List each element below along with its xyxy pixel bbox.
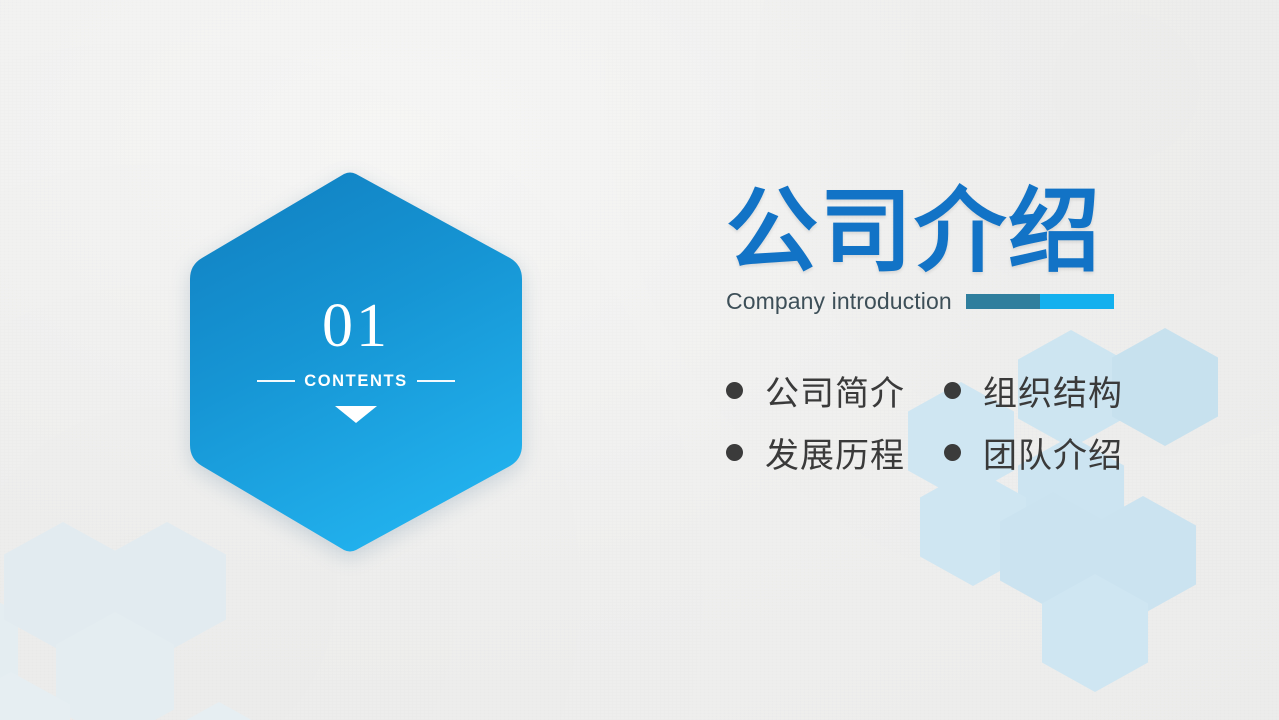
hexagon-decor — [1000, 492, 1106, 610]
agenda-item-history[interactable]: 发展历程 — [726, 428, 944, 477]
hexagon-decor — [920, 468, 1026, 586]
section-number: 01 — [322, 297, 390, 356]
agenda-list: 公司简介 组织结构 发展历程 团队介绍 — [726, 360, 1246, 484]
agenda-item-org-structure[interactable]: 组织结构 — [944, 366, 1162, 415]
bullet-dot-icon — [726, 444, 743, 461]
bullet-dot-icon — [726, 382, 743, 399]
agenda-item-company-profile[interactable]: 公司简介 — [726, 366, 944, 415]
agenda-item-label: 公司简介 — [765, 366, 905, 415]
subtitle-row: Company introduction — [726, 292, 1246, 312]
accent-bar-light-segment — [1040, 294, 1114, 309]
hexagon-decor — [1042, 574, 1148, 692]
agenda-item-team[interactable]: 团队介绍 — [944, 428, 1162, 477]
rule-right — [417, 380, 455, 382]
hexagon-decor — [4, 522, 122, 652]
accent-bar — [966, 294, 1114, 309]
contents-label: CONTENTS — [304, 372, 408, 391]
heading-block: 公司介绍 Company introduction 公司简介 组织结构 发展历程 — [726, 186, 1246, 484]
page-subtitle: Company introduction — [726, 288, 952, 315]
rule-left — [257, 380, 295, 382]
agenda-item-label: 团队介绍 — [983, 428, 1123, 477]
slide-canvas: 01 CONTENTS 公司介绍 Company introduction 公司… — [0, 0, 1279, 720]
hexagon-decor — [0, 672, 70, 720]
bullet-dot-icon — [944, 444, 961, 461]
hexagon-decor — [56, 612, 174, 720]
accent-bar-dark-segment — [966, 294, 1040, 309]
hexagon-decor — [1090, 496, 1196, 614]
agenda-item-label: 发展历程 — [765, 428, 905, 477]
hexagon-decor — [160, 702, 278, 720]
bullet-dot-icon — [944, 382, 961, 399]
section-number-hexagon: 01 CONTENTS — [184, 168, 528, 556]
agenda-item-label: 组织结构 — [983, 366, 1123, 415]
caret-down-icon — [335, 406, 377, 423]
page-title: 公司介绍 — [726, 186, 1246, 280]
hexagon-decor — [0, 580, 18, 710]
contents-label-row: CONTENTS — [257, 372, 455, 391]
